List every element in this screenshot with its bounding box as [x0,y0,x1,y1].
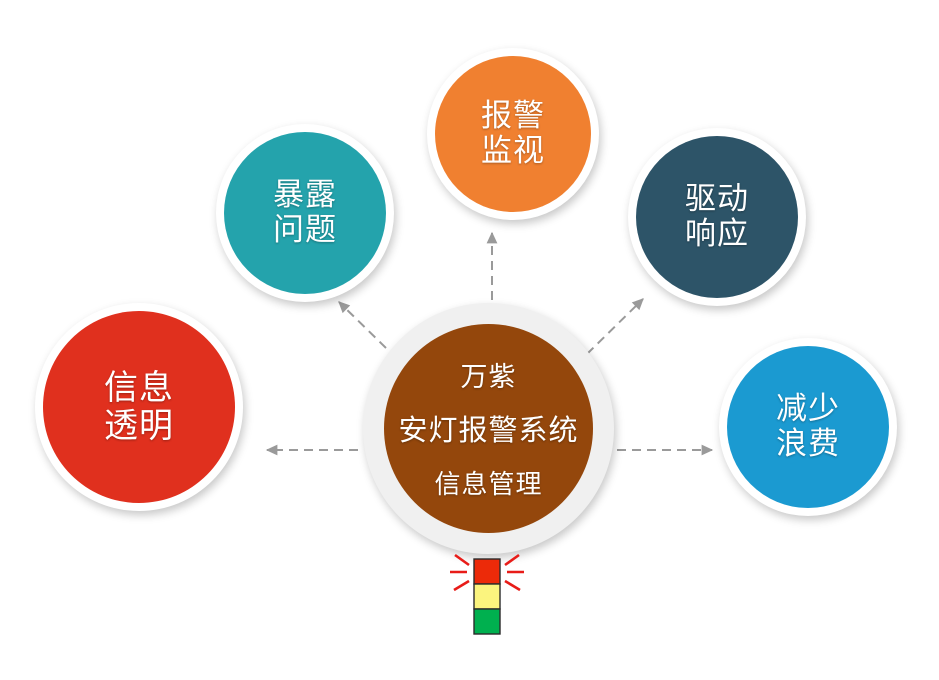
center-bubble[interactable]: 万紫 安灯报警系统 信息管理 [363,303,614,554]
connector-center-to-drive-response [587,299,643,354]
bubble-reduce-waste-line-1: 减少 [776,392,840,427]
bubble-expose-problems-line-1: 暴露 [273,178,337,213]
bubble-info-transparency-disc: 信息 透明 [43,311,235,503]
andon-lamp-yellow [474,584,500,609]
center-bubble-disc: 万紫 安灯报警系统 信息管理 [384,324,593,533]
bubble-alarm-monitoring-disc: 报警 监视 [435,56,591,212]
andon-light-icon [437,546,537,646]
connector-center-to-expose-problems [339,302,386,348]
bubble-reduce-waste-disc: 减少 浪费 [727,346,889,508]
center-line-1: 万紫 [461,362,517,392]
bubble-info-transparency-line-2: 透明 [104,407,174,445]
bubble-drive-response[interactable]: 驱动 响应 [628,128,806,306]
center-line-2: 安灯报警系统 [398,415,578,447]
bubble-alarm-monitoring-line-2: 监视 [481,134,545,169]
bubble-drive-response-line-2: 响应 [685,217,749,252]
andon-lamp-green [474,609,500,634]
andon-lamp-stack [474,559,500,634]
diagram-canvas: 万紫 安灯报警系统 信息管理 信息 透明 暴露 问题 报警 监视 驱动 响应 减… [0,0,939,680]
bubble-expose-problems[interactable]: 暴露 问题 [216,124,394,302]
bubble-alarm-monitoring[interactable]: 报警 监视 [427,48,599,220]
bubble-info-transparency-line-1: 信息 [104,369,174,407]
andon-lamp-red [474,559,500,584]
bubble-info-transparency[interactable]: 信息 透明 [35,303,243,511]
bubble-drive-response-line-1: 驱动 [685,182,749,217]
bubble-alarm-monitoring-line-1: 报警 [481,99,545,134]
bubble-drive-response-disc: 驱动 响应 [636,136,798,298]
bubble-reduce-waste-line-2: 浪费 [776,427,840,462]
bubble-expose-problems-line-2: 问题 [273,213,337,248]
center-line-3: 信息管理 [434,470,542,499]
bubble-expose-problems-disc: 暴露 问题 [224,132,386,294]
bubble-reduce-waste[interactable]: 减少 浪费 [719,338,897,516]
